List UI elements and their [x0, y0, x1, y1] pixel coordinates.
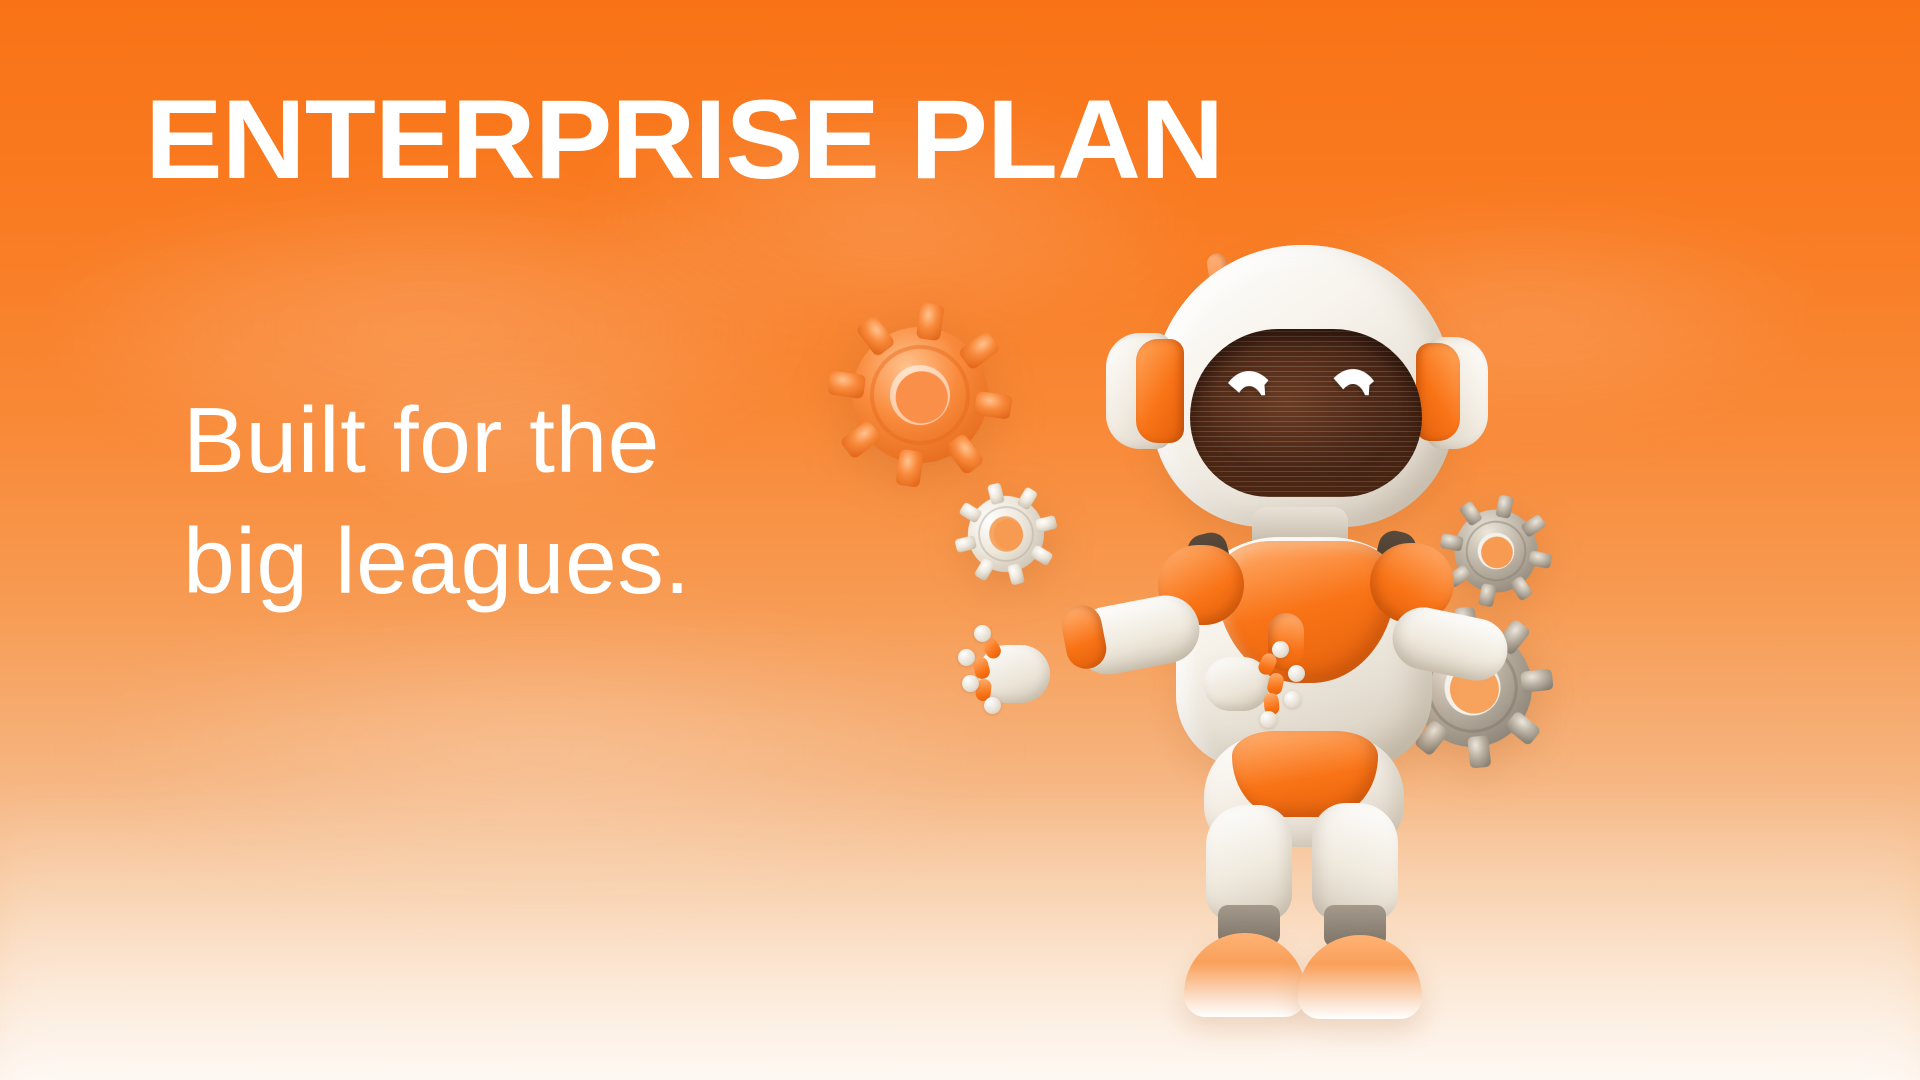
fingertip-right-4 [1260, 711, 1277, 728]
page-title: ENTERPRISE PLAN [145, 84, 1223, 196]
leg-left [1206, 805, 1292, 921]
ear-cap-left [1136, 339, 1184, 443]
ear-cap-right [1416, 343, 1460, 441]
hand-right [1194, 637, 1326, 737]
foot-left [1184, 933, 1306, 1017]
leg-right [1312, 803, 1398, 921]
foot-right [1298, 935, 1422, 1019]
fingertip-left-2 [958, 649, 975, 666]
subheadline: Built for the big leagues. [183, 380, 691, 622]
fingertip-right-2 [1288, 665, 1305, 682]
fingertip-right-3 [1284, 691, 1301, 708]
eye-left [1217, 369, 1282, 417]
hand-left [944, 623, 1084, 729]
enterprise-plan-banner: ENTERPRISE PLAN Built for the big league… [0, 0, 1920, 1080]
ground-fog [0, 780, 1920, 1080]
fingertip-left-3 [962, 675, 979, 692]
fingertip-left-1 [974, 625, 991, 642]
robot-mascot [1040, 245, 1570, 1080]
fingertip-right-1 [1272, 641, 1289, 658]
eye-right [1321, 367, 1386, 415]
fingertip-left-4 [984, 697, 1001, 714]
robot-face-visor [1190, 329, 1422, 497]
gear-orange-large-icon [807, 282, 1033, 508]
